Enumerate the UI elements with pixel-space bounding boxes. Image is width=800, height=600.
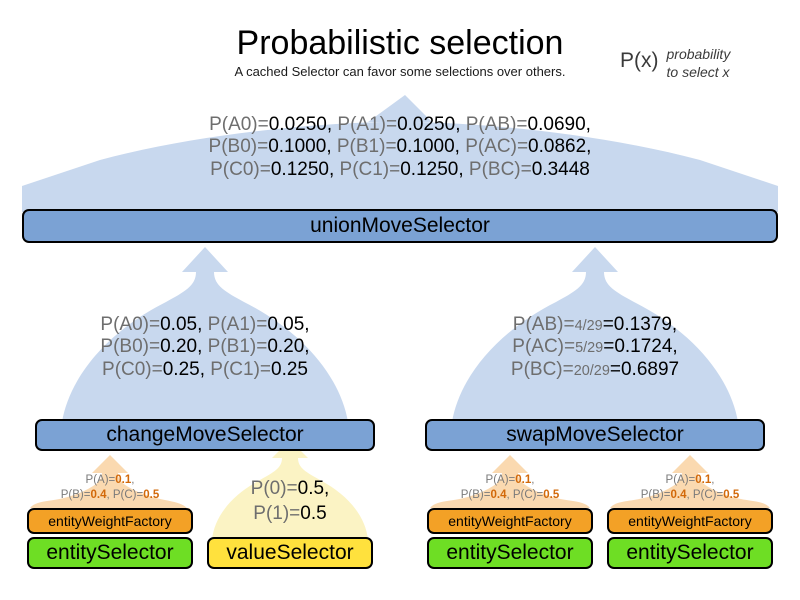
probability-label: P(B)= xyxy=(461,489,491,501)
union-probability-text: P(A0)=0.0250, P(A1)=0.0250, P(AB)=0.0690… xyxy=(100,114,700,181)
probability-fraction: 20/29 xyxy=(574,363,610,379)
probability-label: P(B)= xyxy=(61,489,91,501)
probability-label: P(C1)= xyxy=(210,359,271,380)
probability-label: P(BC)= xyxy=(511,359,574,380)
probability-label: P(AB)= xyxy=(513,314,575,335)
probability-label: P(A)= xyxy=(86,474,116,486)
leaf1-probability-line-2: P(B)=0.4, P(C)=0.5 xyxy=(27,488,193,503)
legend-description-line2: to select x xyxy=(667,64,731,82)
probability-label: P(C1)= xyxy=(340,159,401,180)
probability-label: , P(C)= xyxy=(686,489,723,501)
swap-move-selector-bar[interactable]: swapMoveSelector xyxy=(425,419,765,451)
probability-label: , xyxy=(531,474,534,486)
leaf-probability-text-col1: P(A)=0.1,P(B)=0.4, P(C)=0.5 xyxy=(27,473,193,503)
probability-label: P(C0)= xyxy=(210,159,271,180)
probability-label: P(A)= xyxy=(666,474,696,486)
probability-label: P(0)= xyxy=(251,478,298,499)
legend-description-line1: probability xyxy=(667,46,731,64)
probability-value: 0.0690, xyxy=(528,114,591,135)
change-move-selector-bar[interactable]: changeMoveSelector xyxy=(35,419,375,451)
leaf1-probability-line-1: P(A)=0.1, xyxy=(27,473,193,488)
probability-value: 0.25 xyxy=(271,359,308,380)
probability-value: 0.0250, xyxy=(269,114,338,135)
probability-value: =0.6897 xyxy=(610,359,679,380)
union-move-selector-bar[interactable]: unionMoveSelector xyxy=(22,209,778,243)
probability-value: 0.25, xyxy=(163,359,211,380)
probability-value: 0.0250, xyxy=(397,114,466,135)
probability-value: 0.5, xyxy=(298,478,330,499)
change-probability-line-2: P(B0)=0.20, P(B1)=0.20, xyxy=(55,336,355,358)
value-selector-bar-col2[interactable]: valueSelector xyxy=(207,537,373,569)
leaf-probability-text-col4: P(A)=0.1,P(B)=0.4, P(C)=0.5 xyxy=(607,473,773,503)
probability-value: 0.05, xyxy=(160,314,208,335)
union-probability-line-2: P(B0)=0.1000, P(B1)=0.1000, P(AC)=0.0862… xyxy=(100,136,700,158)
leaf3-probability-line-1: P(A)=0.1, xyxy=(427,473,593,488)
probability-label: P(A)= xyxy=(486,474,516,486)
entity-selector-bar-col1[interactable]: entitySelector xyxy=(27,537,193,569)
diagram-canvas: Probabilistic selection A cached Selecto… xyxy=(0,0,800,600)
entity-weight-factory-bar-col4[interactable]: entityWeightFactory xyxy=(607,508,773,534)
probability-label: , xyxy=(131,474,134,486)
entity-selector-bar-col3[interactable]: entitySelector xyxy=(427,537,593,569)
probability-label: P(AC)= xyxy=(465,136,528,157)
probability-value: 0.4 xyxy=(490,489,506,501)
swap-probability-line-2: P(AC)=5/29=0.1724, xyxy=(445,336,745,358)
leaf2-probability-line-1: P(0)=0.5, xyxy=(207,477,373,502)
entity-weight-factory-bar-col1[interactable]: entityWeightFactory xyxy=(27,508,193,534)
probability-value: 0.1000, xyxy=(397,136,466,157)
probability-value: =0.1724, xyxy=(603,336,678,357)
probability-value: =0.1379, xyxy=(603,314,678,335)
leaf2-probability-line-2: P(1)=0.5 xyxy=(207,502,373,527)
probability-label: P(A0)= xyxy=(209,114,269,135)
probability-label: P(B1)= xyxy=(208,336,268,357)
probability-fraction: 4/29 xyxy=(575,318,603,334)
entity-selector-bar-col4[interactable]: entitySelector xyxy=(607,537,773,569)
legend: P(x) probability to select x xyxy=(620,46,800,81)
probability-value: 0.1 xyxy=(515,474,531,486)
probability-label: P(AC)= xyxy=(512,336,575,357)
probability-value: 0.1250, xyxy=(400,159,469,180)
probability-value: 0.5 xyxy=(543,489,559,501)
change-probability-line-1: P(A0)=0.05, P(A1)=0.05, xyxy=(55,314,355,336)
probability-value: 0.05, xyxy=(267,314,309,335)
probability-label: , xyxy=(711,474,714,486)
probability-label: P(B0)= xyxy=(209,136,269,157)
probability-label: P(BC)= xyxy=(469,159,532,180)
legend-key-label: P(x) xyxy=(620,46,659,72)
probability-value: 0.0862, xyxy=(528,136,591,157)
leaf4-probability-line-2: P(B)=0.4, P(C)=0.5 xyxy=(607,488,773,503)
change-probability-line-3: P(C0)=0.25, P(C1)=0.25 xyxy=(55,359,355,381)
leaf4-probability-line-1: P(A)=0.1, xyxy=(607,473,773,488)
probability-value: 0.1 xyxy=(695,474,711,486)
change-probability-text: P(A0)=0.05, P(A1)=0.05,P(B0)=0.20, P(B1)… xyxy=(55,314,355,381)
probability-label: P(B)= xyxy=(641,489,671,501)
probability-value: 0.1000, xyxy=(268,136,337,157)
legend-description: probability to select x xyxy=(667,46,731,81)
probability-label: , P(C)= xyxy=(106,489,143,501)
probability-value: 0.20, xyxy=(267,336,309,357)
probability-label: P(B0)= xyxy=(100,336,160,357)
probability-label: P(AB)= xyxy=(466,114,528,135)
probability-label: P(A1)= xyxy=(208,314,268,335)
union-probability-line-1: P(A0)=0.0250, P(A1)=0.0250, P(AB)=0.0690… xyxy=(100,114,700,136)
probability-value: 0.1 xyxy=(115,474,131,486)
probability-value: 0.1250, xyxy=(271,159,340,180)
probability-value: 0.20, xyxy=(160,336,208,357)
probability-value: 0.5 xyxy=(143,489,159,501)
probability-label: P(C0)= xyxy=(102,359,163,380)
probability-value: 0.5 xyxy=(723,489,739,501)
swap-probability-line-3: P(BC)=20/29=0.6897 xyxy=(445,359,745,381)
entity-weight-factory-bar-col3[interactable]: entityWeightFactory xyxy=(427,508,593,534)
swap-probability-text: P(AB)=4/29=0.1379,P(AC)=5/29=0.1724,P(BC… xyxy=(445,314,745,381)
probability-label: , P(C)= xyxy=(506,489,543,501)
probability-label: P(B1)= xyxy=(337,136,397,157)
leaf3-probability-line-2: P(B)=0.4, P(C)=0.5 xyxy=(427,488,593,503)
probability-label: P(A0)= xyxy=(100,314,160,335)
probability-value: 0.4 xyxy=(670,489,686,501)
leaf-probability-text-col3: P(A)=0.1,P(B)=0.4, P(C)=0.5 xyxy=(427,473,593,503)
probability-value: 0.5 xyxy=(300,503,326,524)
swap-probability-line-1: P(AB)=4/29=0.1379, xyxy=(445,314,745,336)
probability-fraction: 5/29 xyxy=(575,340,603,356)
probability-label: P(1)= xyxy=(253,503,300,524)
leaf-probability-text-col2: P(0)=0.5,P(1)=0.5 xyxy=(207,477,373,526)
probability-label: P(A1)= xyxy=(337,114,397,135)
probability-value: 0.3448 xyxy=(532,159,590,180)
probability-value: 0.4 xyxy=(90,489,106,501)
union-probability-line-3: P(C0)=0.1250, P(C1)=0.1250, P(BC)=0.3448 xyxy=(100,159,700,181)
